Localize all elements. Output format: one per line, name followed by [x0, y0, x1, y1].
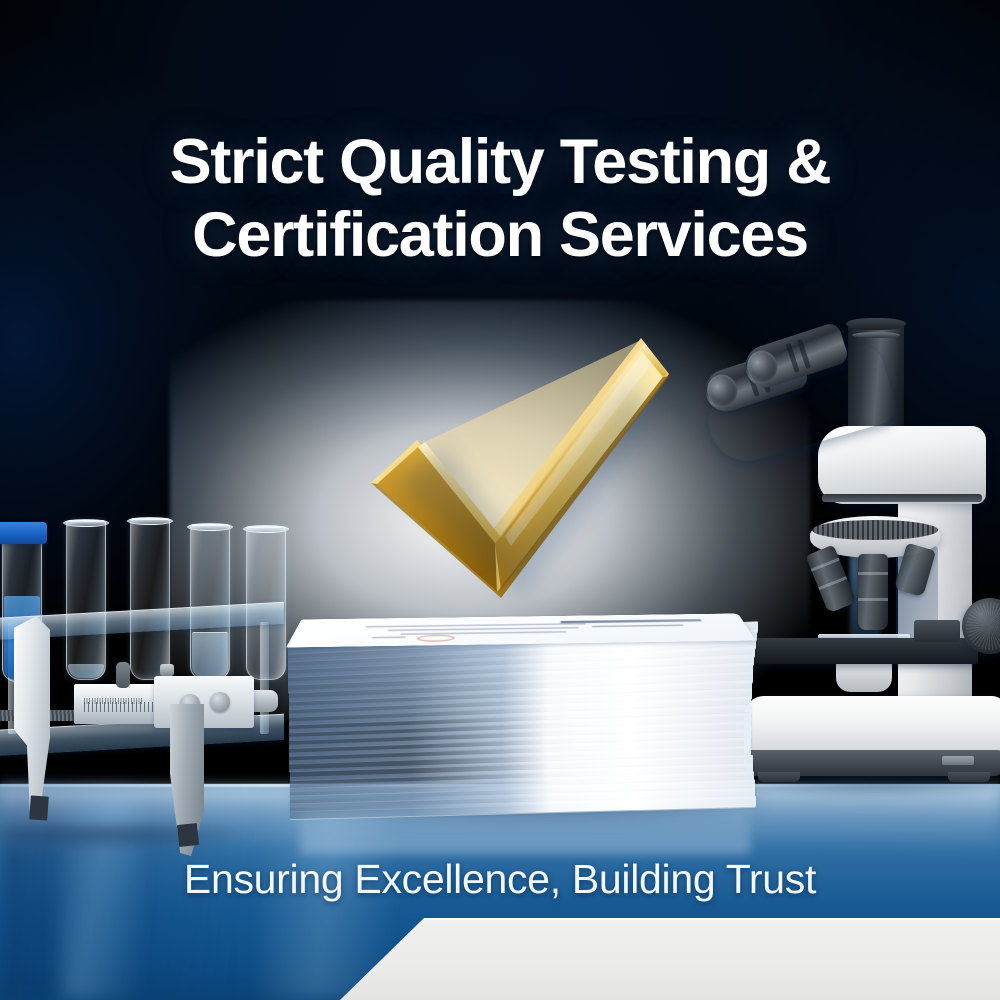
microscope-foot-right: [948, 772, 990, 782]
checkmark-drop-shadow: [383, 370, 663, 602]
certificate-body-line: [400, 631, 566, 635]
objective-ring: [858, 572, 888, 575]
certificate-paper-stack: [284, 588, 762, 814]
test-tube-blue-cap: [0, 522, 47, 544]
certificate-subtitle-line: [592, 625, 684, 628]
objective-ring: [858, 598, 888, 601]
certificate-red-seal: [416, 635, 455, 642]
certificate-signature-line: [372, 636, 406, 638]
test-tube-lip: [187, 523, 233, 531]
vernier-caliper: [0, 612, 278, 852]
microscope-turret-knurl: [812, 520, 938, 540]
test-tube-lip: [127, 517, 173, 525]
microscope-foot-left: [758, 772, 800, 782]
caliper-thumb-knob-2: [210, 692, 230, 712]
caliper-shadow: [0, 824, 248, 850]
eyepiece-grip-rib: [797, 339, 811, 369]
objective-ring: [818, 576, 847, 590]
test-tube-lip: [63, 519, 109, 527]
microscope-base-switch: [942, 756, 974, 765]
caliper-fixed-jaw-tip: [29, 795, 49, 820]
caliper-locking-thumb: [116, 662, 130, 688]
gold-checkmark: [355, 330, 685, 610]
microscope-objective-lens-2: [858, 554, 888, 630]
microscope-stage-clip: [914, 620, 960, 642]
eyepiece-lens: [703, 371, 741, 411]
caliper-vernier-scale: [84, 698, 144, 704]
eyepiece-grip-rib: [786, 343, 800, 373]
paper-stack-reflection: [300, 800, 750, 854]
microscope-tube-ring: [852, 332, 900, 338]
caliper-lock-screw: [160, 664, 174, 676]
page-title: Strict Quality Testing & Certification S…: [0, 126, 1000, 272]
microscope-head-band: [822, 494, 982, 502]
objective-ring: [811, 558, 840, 572]
caliper-fixed-jaw: [14, 616, 50, 812]
banner-top-highlight: [424, 918, 1000, 920]
test-tube-lip: [243, 525, 289, 533]
poster-canvas: Strict Quality Testing & Certification S…: [0, 0, 1000, 1000]
caliper-slider-block: [154, 676, 254, 728]
microscope-camera-port: [846, 318, 906, 330]
page-tagline: Ensuring Excellence, Building Trust: [0, 856, 1000, 903]
caliper-movable-jaw-tip: [177, 823, 199, 847]
microscope-head-housing: [818, 426, 986, 504]
